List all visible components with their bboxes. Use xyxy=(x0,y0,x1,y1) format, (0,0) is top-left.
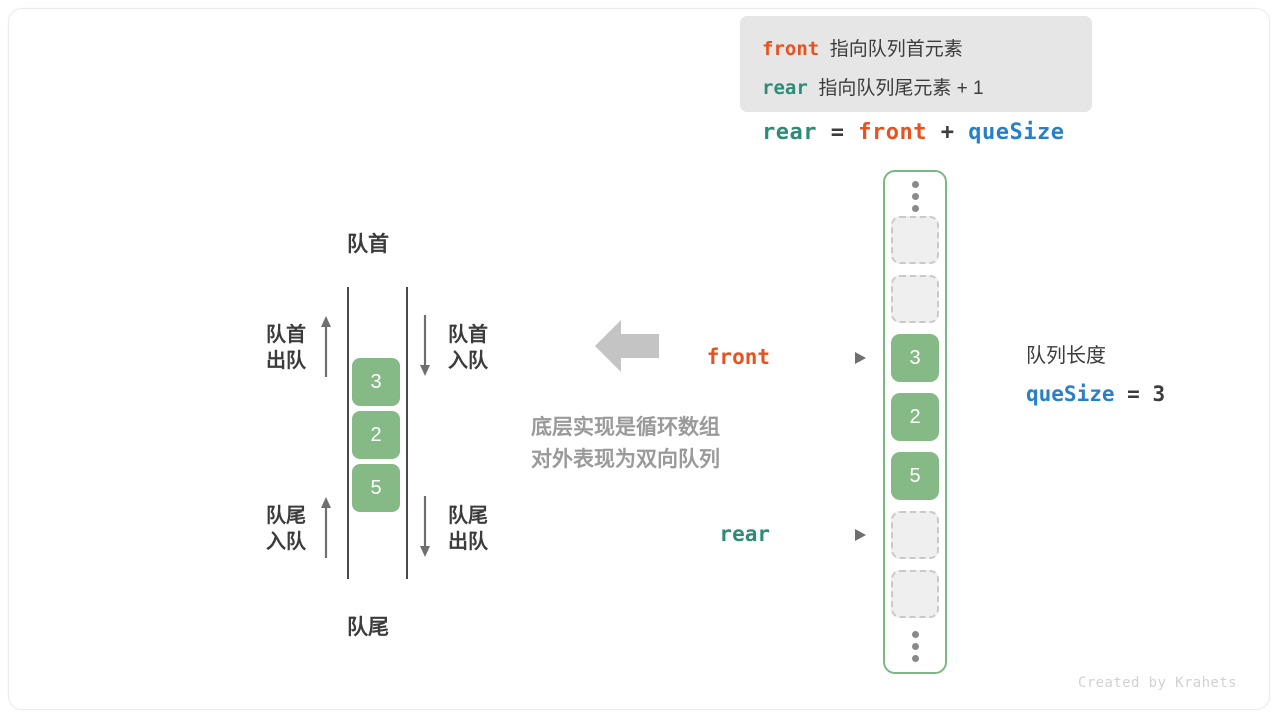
implementation-note: 底层实现是循环数组 对外表现为双向队列 xyxy=(503,412,748,476)
queue-size-value: 3 xyxy=(1152,382,1165,406)
op-label-front-pop-line1: 队首 xyxy=(250,322,306,348)
legend-text-rear: 指向队列尾元素 + 1 xyxy=(818,78,983,99)
op-label-rear-push-line2: 入队 xyxy=(250,529,306,555)
op-label-rear-pop-line1: 队尾 xyxy=(448,503,488,529)
array-cell-1 xyxy=(891,275,939,323)
arrow-left-implementation-icon xyxy=(595,318,659,374)
rear-formula: rear = front + queSize xyxy=(762,119,1064,145)
op-label-front-push-line1: 队首 xyxy=(448,322,488,348)
pointer-label-front: front xyxy=(700,345,770,369)
queue-size-var: queSize xyxy=(1026,382,1115,406)
formula-operand-quesize: queSize xyxy=(968,120,1064,145)
op-label-front-push: 队首 入队 xyxy=(448,322,488,374)
diagram-canvas: front 指向队列首元素 rear 指向队列尾元素 + 1 rear = fr… xyxy=(0,0,1280,720)
deque-rail-right xyxy=(406,287,408,579)
op-label-rear-pop-line2: 出队 xyxy=(448,529,488,555)
formula-operand-front: front xyxy=(858,120,927,145)
pointer-legend-box: front 指向队列首元素 rear 指向队列尾元素 + 1 xyxy=(740,16,1092,112)
legend-term-front: front xyxy=(762,38,819,60)
queue-size-label: 队列长度 xyxy=(1026,340,1165,372)
legend-row-rear: rear 指向队列尾元素 + 1 xyxy=(762,69,1092,108)
array-cell-6 xyxy=(891,570,939,618)
op-label-rear-push-line1: 队尾 xyxy=(250,503,306,529)
queue-size-note: 队列长度 queSize = 3 xyxy=(1026,340,1165,413)
op-label-rear-pop: 队尾 出队 xyxy=(448,503,488,555)
queue-size-expression: queSize = 3 xyxy=(1026,376,1165,413)
legend-term-rear: rear xyxy=(762,77,808,99)
pointer-arrow-rear-icon xyxy=(855,529,866,541)
arrow-up-rear-push xyxy=(318,496,334,558)
arrow-up-front-pop xyxy=(318,315,334,377)
deque-cell-1: 2 xyxy=(352,411,400,459)
array-cell-5 xyxy=(891,511,939,559)
op-label-front-push-line2: 入队 xyxy=(448,348,488,374)
legend-text-front: 指向队列首元素 xyxy=(830,39,963,60)
deque-cell-0: 3 xyxy=(352,358,400,406)
queue-size-equals: = xyxy=(1127,382,1140,406)
arrow-down-rear-pop xyxy=(417,496,433,558)
array-cell-3: 2 xyxy=(891,393,939,441)
op-label-front-pop: 队首 出队 xyxy=(250,322,306,374)
implementation-note-line1: 底层实现是循环数组 xyxy=(503,412,748,444)
arrow-down-front-push xyxy=(417,315,433,377)
credit-text: Created by Krahets xyxy=(1078,675,1237,691)
pointer-arrow-front-icon xyxy=(855,352,866,364)
deque-rear-label: 队尾 xyxy=(347,611,389,641)
formula-plus: + xyxy=(941,120,955,145)
array-cell-2: 3 xyxy=(891,334,939,382)
deque-rail-left xyxy=(347,287,349,579)
array-cell-4: 5 xyxy=(891,452,939,500)
op-label-rear-push: 队尾 入队 xyxy=(250,503,306,555)
ellipsis-top-icon xyxy=(908,181,922,212)
legend-row-front: front 指向队列首元素 xyxy=(762,30,1092,69)
formula-lhs: rear xyxy=(762,120,817,145)
ellipsis-bottom-icon xyxy=(908,631,922,662)
formula-equals: = xyxy=(831,120,845,145)
deque-front-label: 队首 xyxy=(347,228,389,258)
deque-cell-2: 5 xyxy=(352,464,400,512)
array-cell-0 xyxy=(891,216,939,264)
pointer-label-rear: rear xyxy=(710,522,770,546)
implementation-note-line2: 对外表现为双向队列 xyxy=(503,444,748,476)
op-label-front-pop-line2: 出队 xyxy=(250,348,306,374)
